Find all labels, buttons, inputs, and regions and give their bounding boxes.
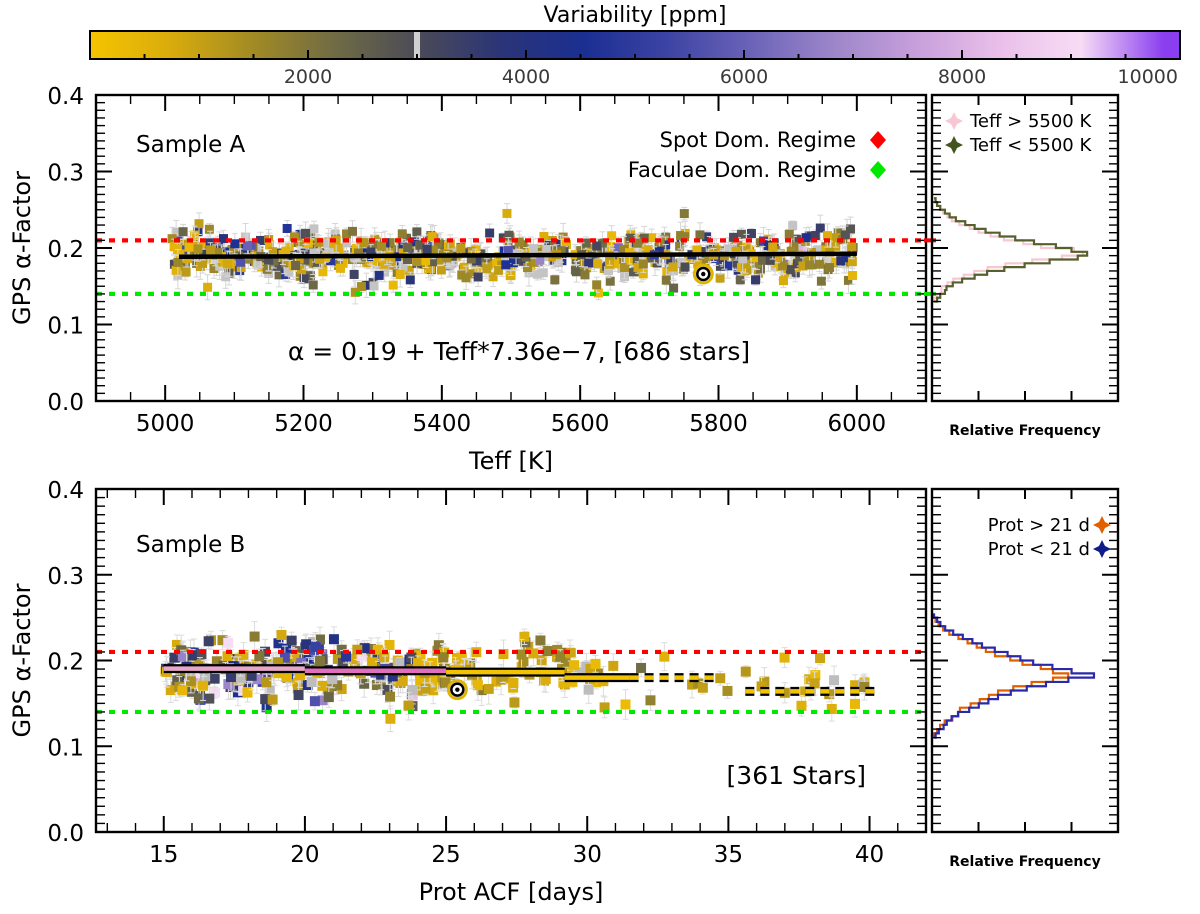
data-point — [310, 696, 320, 706]
data-point — [385, 640, 395, 650]
panel-b-x-axis-label: Prot ACF [days] — [419, 878, 604, 906]
data-point — [172, 266, 181, 275]
data-point — [406, 275, 415, 284]
data-point — [336, 264, 345, 273]
data-point — [327, 674, 337, 684]
x-tick-label: 5400 — [413, 411, 472, 437]
data-point — [324, 692, 334, 702]
data-point — [829, 675, 839, 685]
data-point — [519, 632, 529, 642]
data-point — [350, 270, 359, 279]
data-point — [375, 271, 384, 280]
data-point — [403, 243, 412, 252]
x-tick-label: 6000 — [828, 411, 887, 437]
data-point — [815, 260, 824, 269]
data-point — [309, 224, 318, 233]
data-point — [584, 259, 593, 268]
data-point — [206, 245, 215, 254]
data-point — [608, 661, 618, 671]
legend-label-teff-high: Teff > 5500 K — [969, 111, 1092, 132]
panel-sample-a: 0.00.10.20.30.4500052005400560058006000S… — [8, 84, 1118, 906]
sun-symbol-dot — [455, 687, 459, 691]
data-point — [203, 283, 212, 292]
data-point — [182, 267, 191, 276]
x-tick-label: 25 — [431, 842, 460, 868]
data-point — [412, 227, 421, 236]
data-point — [482, 264, 491, 273]
x-tick-label: 20 — [290, 842, 319, 868]
data-point — [584, 685, 594, 695]
data-point — [385, 692, 395, 702]
data-point — [177, 685, 187, 695]
x-tick-label: 35 — [714, 842, 743, 868]
data-point — [580, 270, 589, 279]
y-tick-label: 0.4 — [47, 478, 84, 504]
data-point — [636, 663, 646, 673]
data-point — [291, 261, 300, 270]
data-point — [287, 636, 297, 646]
data-point — [173, 258, 182, 267]
colorbar-tick-label: 2000 — [284, 66, 332, 88]
panel-a-equation-text: α = 0.19 + Teff*7.36e−7, [686 stars] — [288, 337, 750, 366]
data-point — [377, 242, 386, 251]
data-point — [785, 230, 794, 239]
data-point — [572, 267, 581, 276]
data-point — [423, 245, 432, 254]
data-point — [535, 635, 545, 645]
data-point — [437, 265, 446, 274]
y-tick-label: 0.1 — [47, 735, 84, 761]
colorbar-tick-label: 8000 — [938, 66, 986, 88]
x-tick-label: 5000 — [136, 411, 195, 437]
hist-b-x-axis-label: Relative Frequency — [949, 854, 1100, 870]
data-point — [243, 241, 252, 250]
data-point — [722, 686, 732, 696]
data-point — [841, 230, 850, 239]
data-point — [317, 681, 327, 691]
panel-b-histogram: Relative FrequencyProt > 21 dProt < 21 d — [932, 489, 1118, 870]
data-point — [195, 219, 204, 228]
panel-a-y-axis-label: GPS α-Factor — [8, 171, 36, 325]
data-point — [836, 256, 845, 265]
data-point — [766, 256, 775, 265]
panel-a-fit-line — [179, 254, 857, 257]
legend-label-prot-low: Prot < 21 d — [988, 539, 1090, 560]
data-point — [484, 684, 494, 694]
hist-a-x-axis-label: Relative Frequency — [949, 423, 1100, 439]
x-tick-label: 30 — [573, 842, 602, 868]
data-point — [301, 229, 310, 238]
colorbar-tick-label: 4000 — [502, 66, 550, 88]
data-point — [695, 230, 704, 239]
data-point — [204, 636, 214, 646]
y-tick-label: 0.3 — [47, 564, 84, 590]
data-point — [223, 638, 233, 648]
panel-b-starcount-text: [361 Stars] — [727, 761, 866, 790]
data-point — [847, 242, 856, 251]
data-point — [715, 673, 725, 683]
data-point — [179, 227, 188, 236]
colorbar-tick-label: 6000 — [720, 66, 768, 88]
data-point — [283, 224, 292, 233]
data-point — [669, 262, 678, 271]
sun-symbol-dot — [701, 272, 705, 276]
data-point — [741, 667, 751, 677]
data-point — [348, 227, 357, 236]
data-point — [509, 698, 519, 708]
data-point — [294, 690, 304, 700]
data-point — [370, 281, 379, 290]
data-point — [681, 263, 690, 272]
panel-a-sample-label: Sample A — [136, 132, 246, 158]
colorbar-title-text: Variability [ppm] — [544, 3, 727, 28]
data-point — [758, 256, 767, 265]
data-point — [309, 280, 318, 289]
data-point — [539, 268, 548, 277]
legend-label-faculae-dom: Faculae Dom. Regime — [628, 158, 856, 182]
data-point — [456, 244, 465, 253]
data-point — [398, 676, 408, 686]
data-point — [817, 277, 826, 286]
data-point — [815, 653, 825, 663]
y-tick-label: 0.2 — [47, 650, 84, 676]
data-point — [751, 275, 760, 284]
data-point — [210, 674, 220, 684]
data-point — [569, 660, 579, 670]
data-point — [186, 676, 196, 686]
x-tick-label: 40 — [855, 842, 884, 868]
data-point — [848, 271, 857, 280]
data-point — [412, 257, 421, 266]
panel-sample-b: 0.00.10.20.30.4152025303540Sample B[361 … — [8, 478, 1118, 906]
data-point — [204, 694, 214, 704]
data-point — [620, 699, 630, 709]
data-point — [242, 688, 252, 698]
panel-a-x-axis-label: Teff [K] — [468, 447, 553, 475]
data-point — [529, 244, 538, 253]
data-point — [250, 632, 260, 642]
data-point — [226, 672, 236, 682]
data-point — [523, 263, 532, 272]
data-point — [698, 683, 708, 693]
data-point — [788, 221, 797, 230]
data-point — [508, 678, 518, 688]
data-point — [236, 258, 245, 267]
data-point — [592, 280, 601, 289]
data-point — [276, 630, 286, 640]
data-point — [329, 634, 339, 644]
legend-label-spot-dom: Spot Dom. Regime — [660, 128, 856, 152]
x-tick-label: 15 — [149, 842, 178, 868]
data-point — [396, 270, 405, 279]
data-point — [198, 681, 208, 691]
data-point — [385, 714, 395, 724]
data-point — [779, 276, 788, 285]
y-tick-label: 0.4 — [47, 84, 84, 110]
data-point — [420, 684, 430, 694]
data-point — [502, 209, 511, 218]
data-point — [593, 259, 602, 268]
data-point — [268, 695, 278, 705]
y-tick-label: 0.0 — [47, 390, 84, 416]
data-point — [780, 653, 790, 663]
colorbar-group: Variability [ppm]2000400060008000100000.… — [8, 3, 1180, 906]
legend-label-teff-low: Teff < 5500 K — [969, 135, 1092, 156]
data-point — [592, 241, 601, 250]
data-point — [850, 699, 860, 709]
data-point — [184, 243, 193, 252]
x-tick-label: 5800 — [689, 411, 748, 437]
panel-b-y-axis-label: GPS α-Factor — [8, 583, 36, 737]
data-point — [805, 260, 814, 269]
y-tick-label: 0.3 — [47, 161, 84, 187]
y-tick-label: 0.0 — [47, 821, 84, 847]
data-point — [194, 693, 204, 703]
x-tick-label: 5200 — [274, 411, 333, 437]
data-point — [768, 242, 777, 251]
data-point — [194, 244, 203, 253]
data-point — [223, 259, 232, 268]
data-point — [205, 225, 214, 234]
data-point — [645, 695, 655, 705]
data-point — [796, 701, 806, 711]
data-point — [485, 229, 494, 238]
data-point — [716, 274, 725, 283]
data-point — [367, 657, 377, 667]
figure-svg: Variability [ppm]2000400060008000100000.… — [0, 0, 1200, 914]
data-point — [389, 281, 398, 290]
colorbar-tick-label: 10000 — [1118, 66, 1178, 88]
panel-b-sample-label: Sample B — [136, 532, 245, 558]
data-point — [474, 272, 483, 281]
y-tick-label: 0.1 — [47, 314, 84, 340]
data-point — [662, 276, 671, 285]
data-point — [334, 244, 343, 253]
data-point — [669, 284, 678, 293]
data-point — [639, 259, 648, 268]
data-point — [747, 229, 756, 238]
data-point — [263, 265, 272, 274]
y-tick-label: 0.2 — [47, 237, 84, 263]
data-point — [307, 677, 317, 687]
data-point — [501, 260, 510, 269]
data-point — [825, 263, 834, 272]
data-point — [680, 209, 689, 218]
legend-label-prot-high: Prot > 21 d — [988, 515, 1090, 536]
data-point — [462, 273, 471, 282]
data-point — [261, 677, 271, 687]
data-point — [315, 656, 325, 666]
data-point — [590, 659, 600, 669]
figure-root: Variability [ppm]2000400060008000100000.… — [0, 0, 1200, 914]
data-point — [398, 229, 407, 238]
data-point — [403, 701, 413, 711]
data-point — [550, 275, 559, 284]
x-tick-label: 5600 — [551, 411, 610, 437]
